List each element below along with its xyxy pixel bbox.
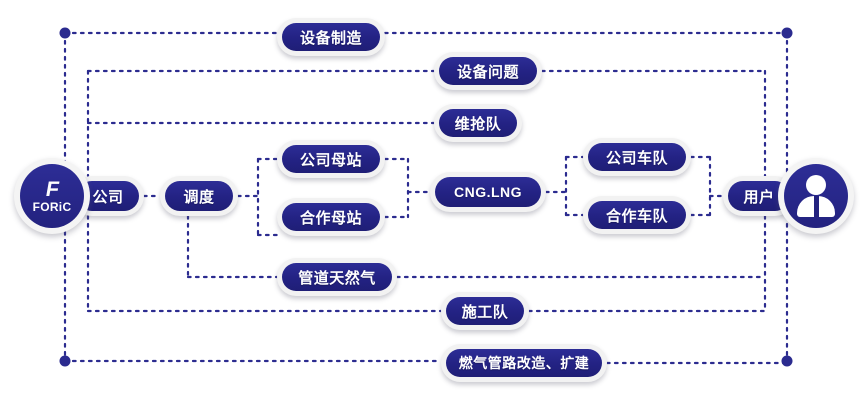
node-label: 公司车队 [588, 143, 686, 171]
node-dispatch[interactable]: 调度 [160, 176, 238, 216]
foric-wordmark: FORiC [33, 201, 72, 213]
user-avatar [778, 158, 854, 234]
node-label: 设备制造 [282, 23, 380, 51]
node-label: 设备问题 [439, 57, 537, 85]
node-label: CNG.LNG [435, 177, 541, 207]
node-label: 合作车队 [588, 201, 686, 229]
node-label: 公司母站 [282, 145, 380, 173]
node-repair-team[interactable]: 维抢队 [434, 104, 522, 142]
node-label: 维抢队 [439, 109, 517, 137]
node-pipeline-gas[interactable]: 管道天然气 [277, 258, 397, 296]
foric-mark-icon: F [44, 179, 61, 200]
node-company-station[interactable]: 公司母站 [277, 140, 385, 178]
node-label: 施工队 [446, 297, 524, 325]
node-company-fleet[interactable]: 公司车队 [583, 138, 691, 176]
node-label: 燃气管路改造、扩建 [446, 349, 602, 377]
node-partner-fleet[interactable]: 合作车队 [583, 196, 691, 234]
node-construct-team[interactable]: 施工队 [441, 292, 529, 330]
foric-logo: F FORiC [14, 158, 90, 234]
node-label: 调度 [165, 181, 233, 211]
node-label: 管道天然气 [282, 263, 392, 291]
node-label: 合作母站 [282, 203, 380, 231]
node-partner-station[interactable]: 合作母站 [277, 198, 385, 236]
flow-diagram: F FORiC 公司调度设备制造设备问题维抢队公司母站合作母站CNG.LNG公司… [0, 0, 862, 411]
node-pipeline-rebuild[interactable]: 燃气管路改造、扩建 [441, 344, 607, 382]
logo-disc: F FORiC [20, 164, 84, 228]
person-body-icon [797, 196, 835, 217]
node-equip-issue[interactable]: 设备问题 [434, 52, 542, 90]
person-head-icon [806, 175, 826, 195]
node-cng-lng[interactable]: CNG.LNG [430, 172, 546, 212]
node-equip-manu[interactable]: 设备制造 [277, 18, 385, 56]
avatar-disc [784, 164, 848, 228]
